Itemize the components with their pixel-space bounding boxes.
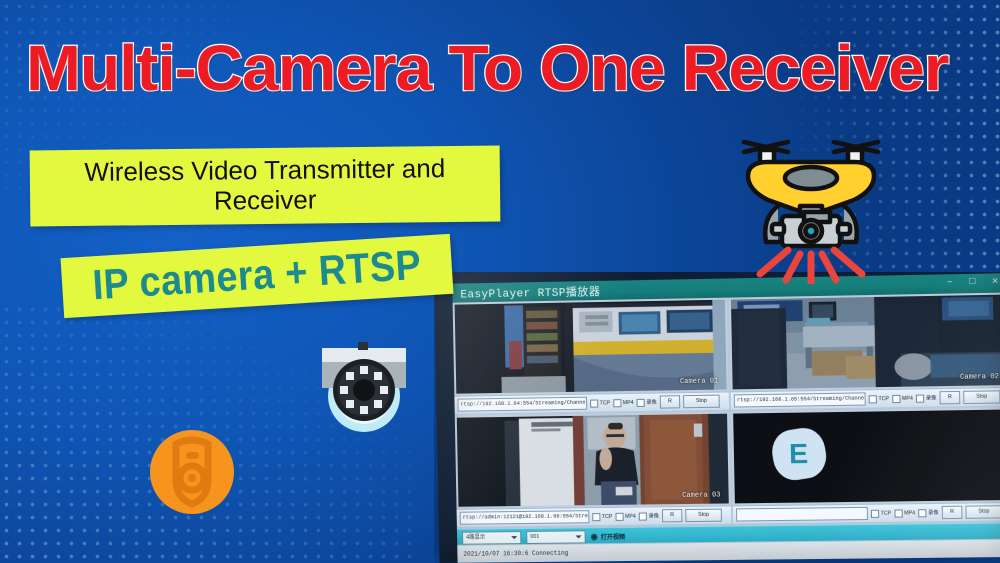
- video-feed-4[interactable]: E: [733, 410, 1000, 504]
- pane-controls-2: rtsp://192.168.1.65:554/Streaming/Channe…: [731, 387, 1000, 409]
- osd-camera-label-1: Camera 01: [680, 377, 719, 386]
- rtsp-url-input-3[interactable]: rtsp://admin:12121@192.168.1.66:554/Stre…: [460, 510, 590, 525]
- window-title-text: EasyPlayer RTSP播放器: [460, 282, 600, 301]
- video-feed-1[interactable]: Camera 01: [455, 300, 727, 394]
- easyplayer-logo-icon: E: [772, 428, 826, 479]
- subtitle-text: Wireless Video Transmitter and Receiver: [30, 153, 501, 219]
- drone-icon: [726, 114, 896, 284]
- tagline-text: IP camera + RTSP: [80, 239, 433, 310]
- easyplayer-window: EasyPlayer RTSP播放器 – □ ✕: [452, 273, 1000, 563]
- checkbox-tcp-4[interactable]: TCP: [871, 509, 892, 517]
- rtsp-url-input-2[interactable]: rtsp://192.168.1.65:554/Streaming/Channe…: [734, 392, 866, 407]
- app-bottom-bar: 4路显示 001 ◉ 打开视频 2021/10/07 16:30:6 Conne…: [457, 522, 1000, 562]
- subtitle-banner: Wireless Video Transmitter and Receiver: [30, 146, 501, 227]
- rtsp-url-input-4[interactable]: [736, 507, 868, 522]
- open-video-label: 打开视频: [601, 531, 625, 540]
- status-text: 2021/10/07 16:30:6 Connecting: [463, 550, 568, 558]
- video-feed-2[interactable]: Camera 02: [731, 295, 1000, 390]
- checkbox-tcp-1[interactable]: TCP: [590, 399, 610, 407]
- stop-button-4[interactable]: Stop: [965, 505, 1000, 519]
- pane-controls-1: rtsp://192.168.1.64:554/Streaming/Channe…: [454, 391, 729, 413]
- window-controls[interactable]: – □ ✕: [946, 275, 1000, 288]
- monitor-screenshot: EasyPlayer RTSP播放器 – □ ✕: [434, 272, 1000, 563]
- record-button-1[interactable]: R: [660, 395, 681, 408]
- checkbox-tcp-3[interactable]: TCP: [592, 512, 612, 520]
- record-button-3[interactable]: R: [662, 509, 683, 522]
- page-title: Multi-Camera To One Receiver: [26, 36, 1000, 100]
- stop-button-1[interactable]: Stop: [683, 395, 720, 409]
- stop-button-3[interactable]: Stop: [685, 509, 722, 523]
- video-pane-1[interactable]: Camera 01 rtsp://192.168.1.64:554/Stream…: [453, 298, 731, 416]
- record-button-2[interactable]: R: [939, 391, 960, 405]
- open-video-button[interactable]: ◉ 打开视频: [591, 531, 625, 540]
- folder-icon: ◉: [591, 532, 598, 541]
- checkbox-record-4[interactable]: 录像: [918, 509, 939, 517]
- checkbox-record-1[interactable]: 录像: [637, 398, 657, 406]
- tagline-banner: IP camera + RTSP: [61, 234, 454, 318]
- osd-camera-label-3: Camera 03: [682, 491, 721, 500]
- easyplayer-logo-letter: E: [772, 428, 826, 479]
- rtsp-url-input-1[interactable]: rtsp://192.168.1.64:554/Streaming/Channe…: [457, 397, 587, 412]
- brand-logo-icon: [148, 428, 236, 516]
- record-button-4[interactable]: R: [942, 506, 963, 519]
- video-pane-4[interactable]: E TCP MP4 录像 R Stop: [731, 407, 1000, 525]
- thumbnail-canvas: EasyPlayer RTSP播放器 – □ ✕: [0, 0, 1000, 563]
- video-pane-2[interactable]: Camera 02 rtsp://192.168.1.65:554/Stream…: [729, 292, 1000, 411]
- channel-select[interactable]: 001: [526, 530, 586, 544]
- layout-select[interactable]: 4路显示: [462, 531, 521, 545]
- stop-button-2[interactable]: Stop: [963, 390, 1000, 404]
- checkbox-mp4-2[interactable]: MP4: [892, 394, 913, 402]
- checkbox-mp4-4[interactable]: MP4: [894, 509, 915, 517]
- checkbox-mp4-1[interactable]: MP4: [613, 398, 634, 406]
- pane-controls-3: rtsp://admin:12121@192.168.1.66:554/Stre…: [457, 505, 732, 526]
- pane-controls-4: TCP MP4 录像 R Stop: [733, 502, 1000, 524]
- checkbox-tcp-2[interactable]: TCP: [869, 395, 890, 403]
- checkbox-record-2[interactable]: 录像: [916, 394, 937, 402]
- video-pane-3[interactable]: Camera 03 rtsp://admin:12121@192.168.1.6…: [455, 412, 734, 529]
- checkbox-record-3[interactable]: 录像: [639, 512, 659, 520]
- checkbox-mp4-3[interactable]: MP4: [615, 512, 636, 520]
- video-feed-3[interactable]: Camera 03: [457, 414, 729, 507]
- dome-camera-icon: [304, 326, 422, 444]
- osd-camera-label-2: Camera 02: [960, 373, 999, 382]
- video-pane-grid: Camera 01 rtsp://192.168.1.64:554/Stream…: [453, 292, 1000, 528]
